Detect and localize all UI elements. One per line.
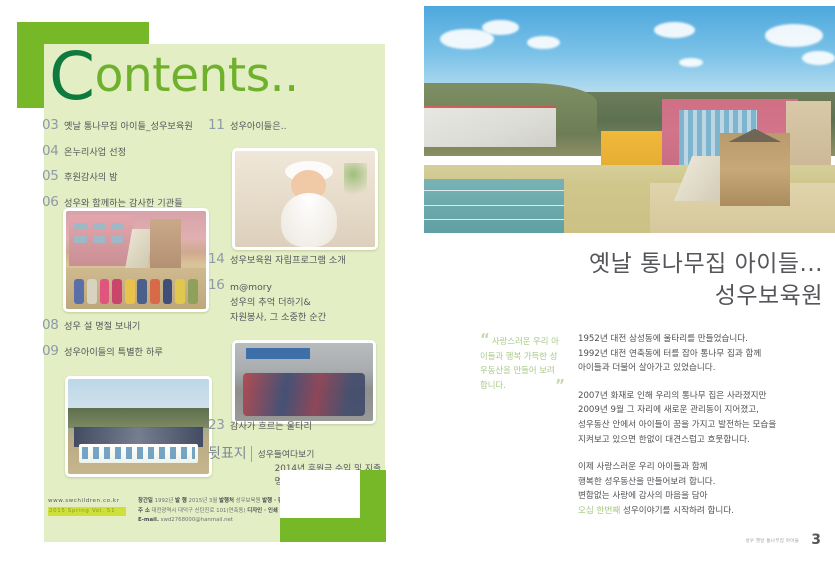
quote-open-icon: “: [480, 330, 490, 348]
toc-label-group: m@mory 성우의 추억 더하기& 자원봉사, 그 소중한 순간: [230, 278, 326, 325]
toc-label: 후원감사의 밤: [64, 169, 118, 185]
folio-note: 성우 옛날 통나무집 아이들: [745, 538, 799, 544]
article-title-line-2: 성우보육원: [558, 280, 823, 312]
toc-label: 감사가 흐르는 울타리: [230, 418, 312, 434]
imprint-website-block: www.swchildren.co.kr 2015 Spring Vol. 51: [48, 497, 126, 516]
article-body: 1952년 대전 삼성동에 울타리를 만들었습니다. 1992년 대전 연축동에…: [578, 332, 833, 532]
paragraph-2-line-2: 2009년 9월 그 자리에 새로운 관리동이 지어졌고,: [578, 403, 833, 418]
photo-kids-playground: [63, 208, 209, 312]
toc-number: 23: [208, 418, 230, 433]
photo-beach-group: [65, 376, 212, 477]
toc-entry-08[interactable]: 08 성우 설 명절 보내기: [42, 318, 214, 334]
toc-column-left-lower: 08 성우 설 명절 보내기 09 성우아이들의 특별한 하루: [42, 318, 214, 369]
paragraph-2: 2007년 화재로 인해 우리의 통나무 집은 사라졌지만 2009년 9월 그…: [578, 389, 833, 447]
toc-label: m@mory: [230, 280, 326, 295]
paragraph-1-line-3: 아이들과 더불어 살아가고 있었습니다.: [578, 361, 833, 376]
paragraph-1-line-1: 1952년 대전 삼성동에 울타리를 만들었습니다.: [578, 332, 833, 347]
toc-number: 06: [42, 195, 64, 210]
imprint-address-value: 대전광역시 대덕구 신탄진로 101(연축동): [152, 508, 246, 514]
toc-entry-16[interactable]: 16 m@mory 성우의 추억 더하기& 자원봉사, 그 소중한 순간: [208, 278, 380, 325]
article-title: 옛날 통나무집 아이들... 성우보육원: [558, 248, 823, 312]
imprint-address-label: 주 소: [138, 508, 150, 514]
toc-entry-23[interactable]: 23 감사가 흐르는 울타리: [208, 418, 383, 434]
toc-column-left: 03 옛날 통나무집 아이들_성우보육원 04 온누리사업 선정 05 후원감사…: [42, 118, 214, 220]
toc-label: 성우 설 명절 보내기: [64, 318, 140, 334]
toc-label: 옛날 통나무집 아이들_성우보육원: [64, 118, 193, 134]
page-number: 3: [811, 530, 821, 550]
highlighted-phrase: 오십 한번째: [578, 506, 620, 516]
paragraph-2-line-4: 지켜보고 있으면 한없이 대견스럽고 흐뭇합니다.: [578, 433, 833, 448]
toc-label: 성우아이들은..: [230, 118, 287, 134]
quote-close-icon: ”: [555, 380, 565, 390]
toc-entry-11[interactable]: 11 성우아이들은..: [208, 118, 378, 134]
right-page-article: 옛날 통나무집 아이들... 성우보육원 “사랑스러운 우리 아이들과 행복 가…: [418, 0, 835, 571]
article-title-line-1: 옛날 통나무집 아이들...: [558, 248, 823, 280]
toc-entry-03[interactable]: 03 옛날 통나무집 아이들_성우보육원: [42, 118, 214, 134]
pull-quote: “사랑스러운 우리 아이들과 행복 가득한 성우동산을 만들어 보려 합니다.”: [480, 334, 565, 392]
toc-column-right-mid: 14 성우보육원 자립프로그램 소개 16 m@mory 성우의 추억 더하기&…: [208, 252, 380, 334]
paragraph-3-line-2: 행복한 성우동산을 만들어보려 합니다.: [578, 475, 833, 490]
imprint-founded-value: 1992년: [155, 498, 174, 504]
left-page-contents: Contents.. 03 옛날 통나무집 아이들_성우보육원 04 온누리사업…: [0, 0, 418, 571]
toc-entry-14[interactable]: 14 성우보육원 자립프로그램 소개: [208, 252, 380, 268]
paragraph-2-line-1: 2007년 화재로 인해 우리의 통나무 집은 사라졌지만: [578, 389, 833, 404]
page-title-rest: ontents..: [95, 48, 299, 103]
issue-badge: 2015 Spring Vol. 51: [48, 507, 126, 516]
page-footer: 성우 옛날 통나무집 아이들 3: [418, 530, 835, 558]
photo-volunteer-group: [232, 340, 376, 424]
toc-number: 04: [42, 144, 64, 159]
toc-number: 08: [42, 318, 64, 333]
imprint-issued-label: 발 행: [175, 498, 187, 504]
toc-number: 09: [42, 344, 64, 359]
hero-photo-campus: [424, 6, 835, 233]
page-title: Contents..: [49, 45, 349, 107]
imprint-founded-label: 창간일: [138, 498, 153, 504]
toc-label: 온누리사업 선정: [64, 144, 126, 160]
toc-column-right: 11 성우아이들은..: [208, 118, 378, 144]
toc-number: 05: [42, 169, 64, 184]
toc-number: 16: [208, 278, 230, 293]
toc-entry-04[interactable]: 04 온누리사업 선정: [42, 144, 214, 160]
toc-number: 03: [42, 118, 64, 133]
page-title-initial: C: [49, 38, 95, 115]
paragraph-2-line-3: 성우동산 안에서 아이들이 꿈을 가지고 발전하는 모습을: [578, 418, 833, 433]
photo-baby-in-white-dress: [232, 148, 378, 250]
toc-sublabel-1: 성우의 추억 더하기&: [230, 295, 326, 310]
imprint-email-value[interactable]: swd2768000@hanmail.net: [161, 517, 233, 523]
website-url[interactable]: www.swchildren.co.kr: [48, 497, 126, 505]
imprint-email-label: E-mail.: [138, 517, 159, 523]
toc-back-cover-line-1: 성우들여다보기: [258, 449, 383, 463]
imprint-issued-value: 2015년 3월: [189, 498, 218, 504]
corner-bracket-bottom-right-mask: [280, 470, 360, 518]
toc-entry-05[interactable]: 05 후원감사의 밤: [42, 169, 214, 185]
pull-quote-line-1: 사랑스러운 우리: [492, 336, 549, 346]
toc-label: 성우아이들의 특별한 하루: [64, 344, 163, 360]
toc-back-cover-number: 뒷표지: [208, 446, 252, 462]
paragraph-3-line-4-rest: 성우이야기를 시작하려 합니다.: [620, 506, 734, 516]
paragraph-1-line-2: 1992년 대전 연축동에 터를 잡아 통나무 집과 함께: [578, 347, 833, 362]
paragraph-3-line-1: 이제 사랑스러운 우리 아이들과 함께: [578, 460, 833, 475]
imprint-printer-label: 디자인 · 인쇄: [247, 508, 278, 514]
imprint-publisher-label: 발행처: [219, 498, 234, 504]
paragraph-3-line-4: 오십 한번째 성우이야기를 시작하려 합니다.: [578, 504, 833, 519]
toc-number: 14: [208, 252, 230, 267]
toc-sublabel-2: 자원봉사, 그 소중한 순간: [230, 310, 326, 325]
toc-label: 성우보육원 자립프로그램 소개: [230, 252, 346, 268]
imprint-publisher-value: 성우보육원: [236, 498, 261, 504]
paragraph-3: 이제 사랑스러운 우리 아이들과 함께 행복한 성우동산을 만들어보려 합니다.…: [578, 460, 833, 518]
toc-number: 11: [208, 118, 230, 133]
toc-entry-09[interactable]: 09 성우아이들의 특별한 하루: [42, 344, 214, 360]
paragraph-1: 1952년 대전 삼성동에 울타리를 만들었습니다. 1992년 대전 연축동에…: [578, 332, 833, 376]
paragraph-3-line-3: 변함없는 사랑에 감사의 마음을 담아: [578, 489, 833, 504]
